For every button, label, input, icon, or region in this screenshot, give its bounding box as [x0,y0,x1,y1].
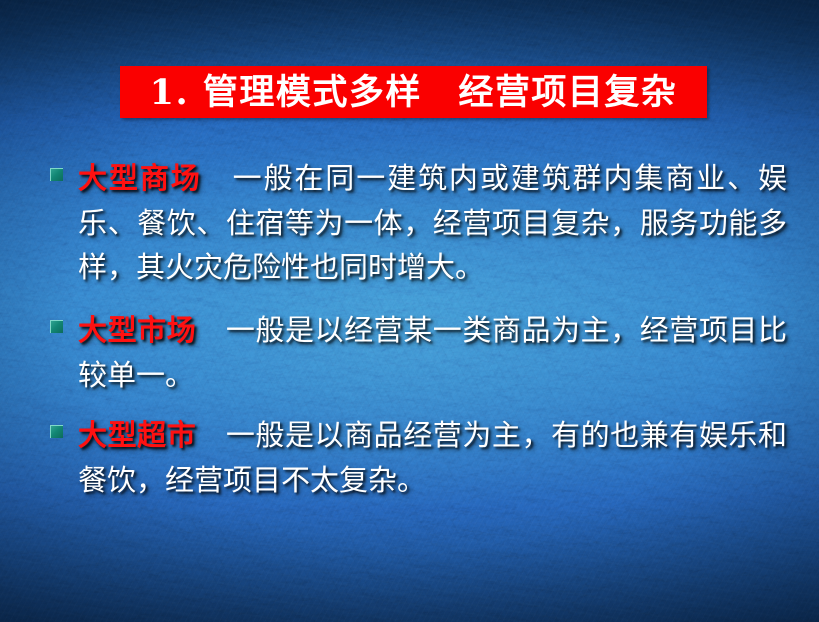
bullet-gap-3 [196,418,226,452]
square-bullet-icon [50,425,63,438]
bullet-text-3: 大型超市 一般是以商品经营为主，有的也兼有娱乐和餐饮，经营项目不太复杂。 [78,413,787,502]
bullet-term-1: 大型商场 [78,161,202,195]
bullet-item-3: 大型超市 一般是以商品经营为主，有的也兼有娱乐和餐饮，经营项目不太复杂。 [0,413,819,502]
bullet-item-2: 大型市场 一般是以经营某一类商品为主，经营项目比较单一。 [0,308,819,397]
square-bullet-icon [50,320,63,333]
bullet-gap-2 [196,313,226,347]
presentation-slide: 1. 管理模式多样 经营项目复杂 大型商场 一般在同一建筑内或建筑群内集商业、娱… [0,0,819,622]
bullet-term-3: 大型超市 [78,418,196,452]
bullet-gap-1 [202,161,233,195]
slide-body: 大型商场 一般在同一建筑内或建筑群内集商业、娱乐、餐饮、住宿等为一体，经营项目复… [0,156,819,517]
bullet-text-1: 大型商场 一般在同一建筑内或建筑群内集商业、娱乐、餐饮、住宿等为一体，经营项目复… [78,156,787,290]
bullet-term-2: 大型市场 [78,313,196,347]
slide-title-banner: 1. 管理模式多样 经营项目复杂 [120,66,707,118]
bullet-text-2: 大型市场 一般是以经营某一类商品为主，经营项目比较单一。 [78,308,787,397]
slide-title: 1. 管理模式多样 经营项目复杂 [150,75,678,110]
square-bullet-icon [50,168,63,181]
bullet-item-1: 大型商场 一般在同一建筑内或建筑群内集商业、娱乐、餐饮、住宿等为一体，经营项目复… [0,156,819,290]
